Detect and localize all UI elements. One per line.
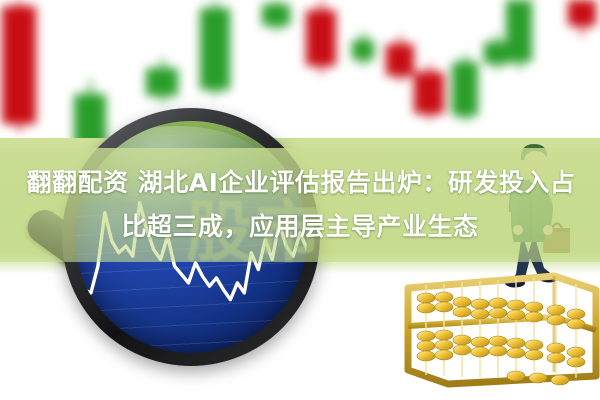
golden-abacus (404, 272, 600, 388)
candle-body (352, 40, 374, 60)
headline-line-2: 比超三成，应用层主导产业生态 (121, 205, 478, 249)
headline-line-1: 翻翻配资 湖北AI企业评估报告出炉：研发投入占 (25, 161, 576, 205)
abacus-frame (408, 276, 596, 384)
candle-body (2, 6, 36, 124)
candle-body (506, 0, 532, 62)
candle-body (452, 62, 478, 116)
candle-body (568, 0, 596, 26)
candle-body (386, 44, 414, 76)
article-thumbnail: 股市 (0, 0, 600, 400)
candle-body (262, 4, 290, 26)
candle-body (200, 8, 230, 90)
abacus-beads (417, 292, 585, 385)
candle-body (146, 68, 178, 96)
candle-body (414, 72, 444, 114)
headline: 翻翻配资 湖北AI企业评估报告出炉：研发投入占 比超三成，应用层主导产业生态 (0, 150, 600, 260)
candle-body (306, 10, 336, 66)
